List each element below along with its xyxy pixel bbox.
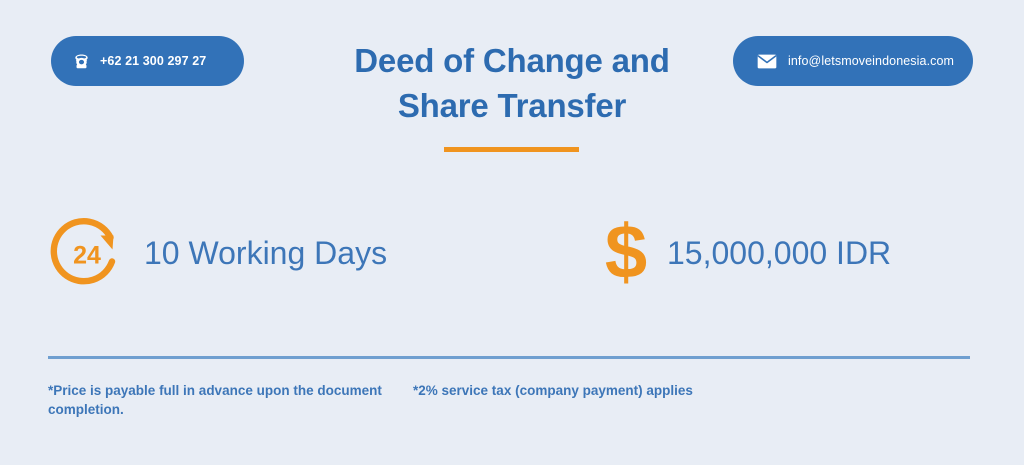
duration-value: 10 Working Days: [144, 237, 387, 269]
svg-text:24: 24: [73, 242, 101, 270]
footnote-price-terms: *Price is payable full in advance upon t…: [48, 381, 413, 419]
price-value: 15,000,000 IDR: [667, 237, 891, 269]
service-price-card: +62 21 300 297 27 info@letsmoveindonesia…: [0, 0, 1024, 465]
dollar-sign-icon: $: [597, 212, 655, 294]
title-line-1: Deed of Change and: [0, 38, 1024, 83]
clock-24-hour-icon: 24: [48, 212, 130, 294]
duration-feature: 24 10 Working Days: [48, 212, 387, 294]
title-line-2: Share Transfer: [0, 83, 1024, 128]
footnotes-group: *Price is payable full in advance upon t…: [48, 381, 978, 419]
page-title: Deed of Change and Share Transfer: [0, 38, 1024, 128]
title-accent-rule: [444, 147, 579, 152]
section-divider: [48, 356, 970, 359]
footnote-service-tax: *2% service tax (company payment) applie…: [413, 381, 713, 419]
price-feature: $ 15,000,000 IDR: [597, 212, 891, 294]
